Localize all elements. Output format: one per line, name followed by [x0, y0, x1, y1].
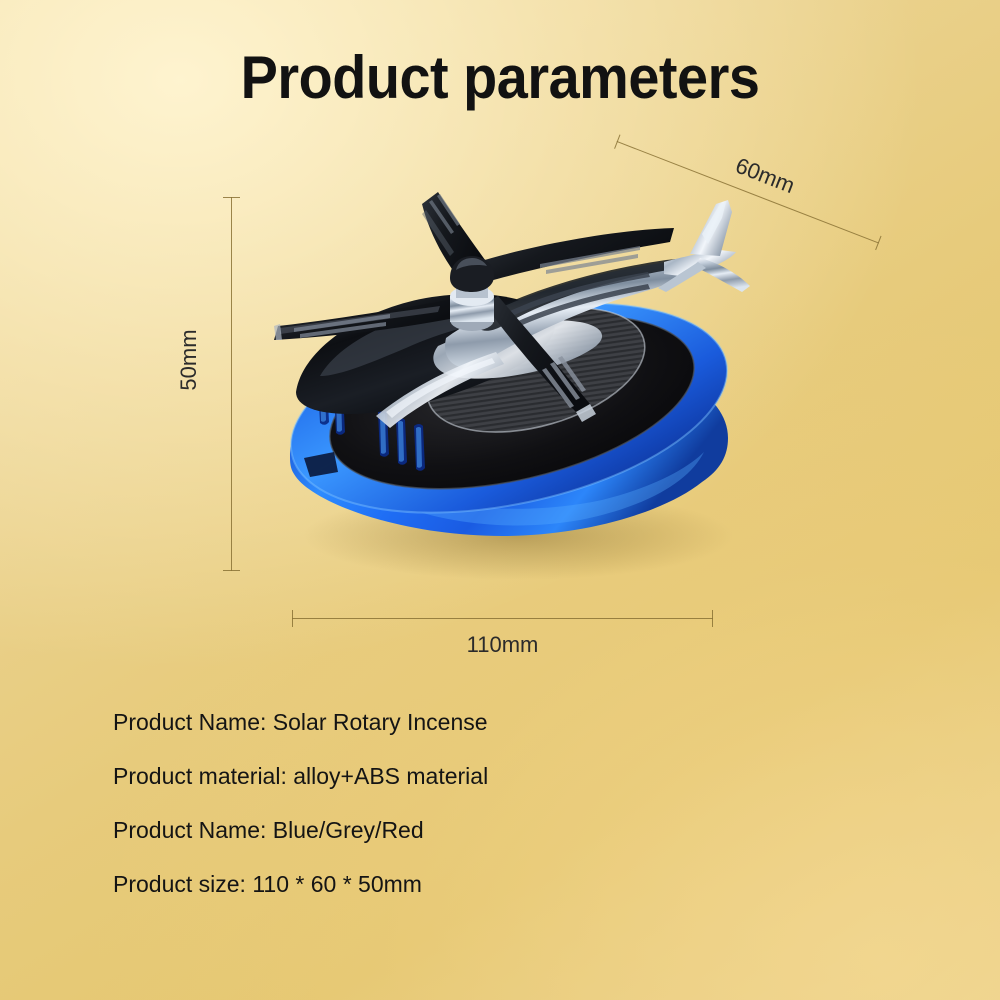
- spec-product-material: Product material: alloy+ABS material: [113, 762, 873, 816]
- tail-stabilizer: [694, 258, 750, 292]
- dimension-50mm-line: [231, 197, 232, 571]
- dimension-110mm-tick-end: [712, 610, 713, 627]
- dimension-50mm-tick-end: [223, 570, 240, 571]
- dimension-110mm-label: 110mm: [292, 632, 713, 658]
- dimension-110mm-tick-start: [292, 610, 293, 627]
- dimension-110mm: 110mm: [292, 618, 713, 619]
- dimension-50mm-label: 50mm: [176, 290, 202, 430]
- product-spec-list: Product Name: Solar Rotary Incense Produ…: [113, 708, 873, 924]
- spec-product-color: Product Name: Blue/Grey/Red: [113, 816, 873, 870]
- spec-product-size: Product size: 110 * 60 * 50mm: [113, 870, 873, 924]
- product-parameters-page: Product parameters: [0, 0, 1000, 1000]
- page-title: Product parameters: [35, 48, 965, 108]
- product-image-solar-rotary-incense: [250, 170, 760, 590]
- dimension-50mm: 50mm: [231, 197, 232, 571]
- rotor-hub: [450, 256, 494, 331]
- spec-product-name: Product Name: Solar Rotary Incense: [113, 708, 873, 762]
- dimension-50mm-tick-start: [223, 197, 240, 198]
- dimension-110mm-line: [292, 618, 713, 619]
